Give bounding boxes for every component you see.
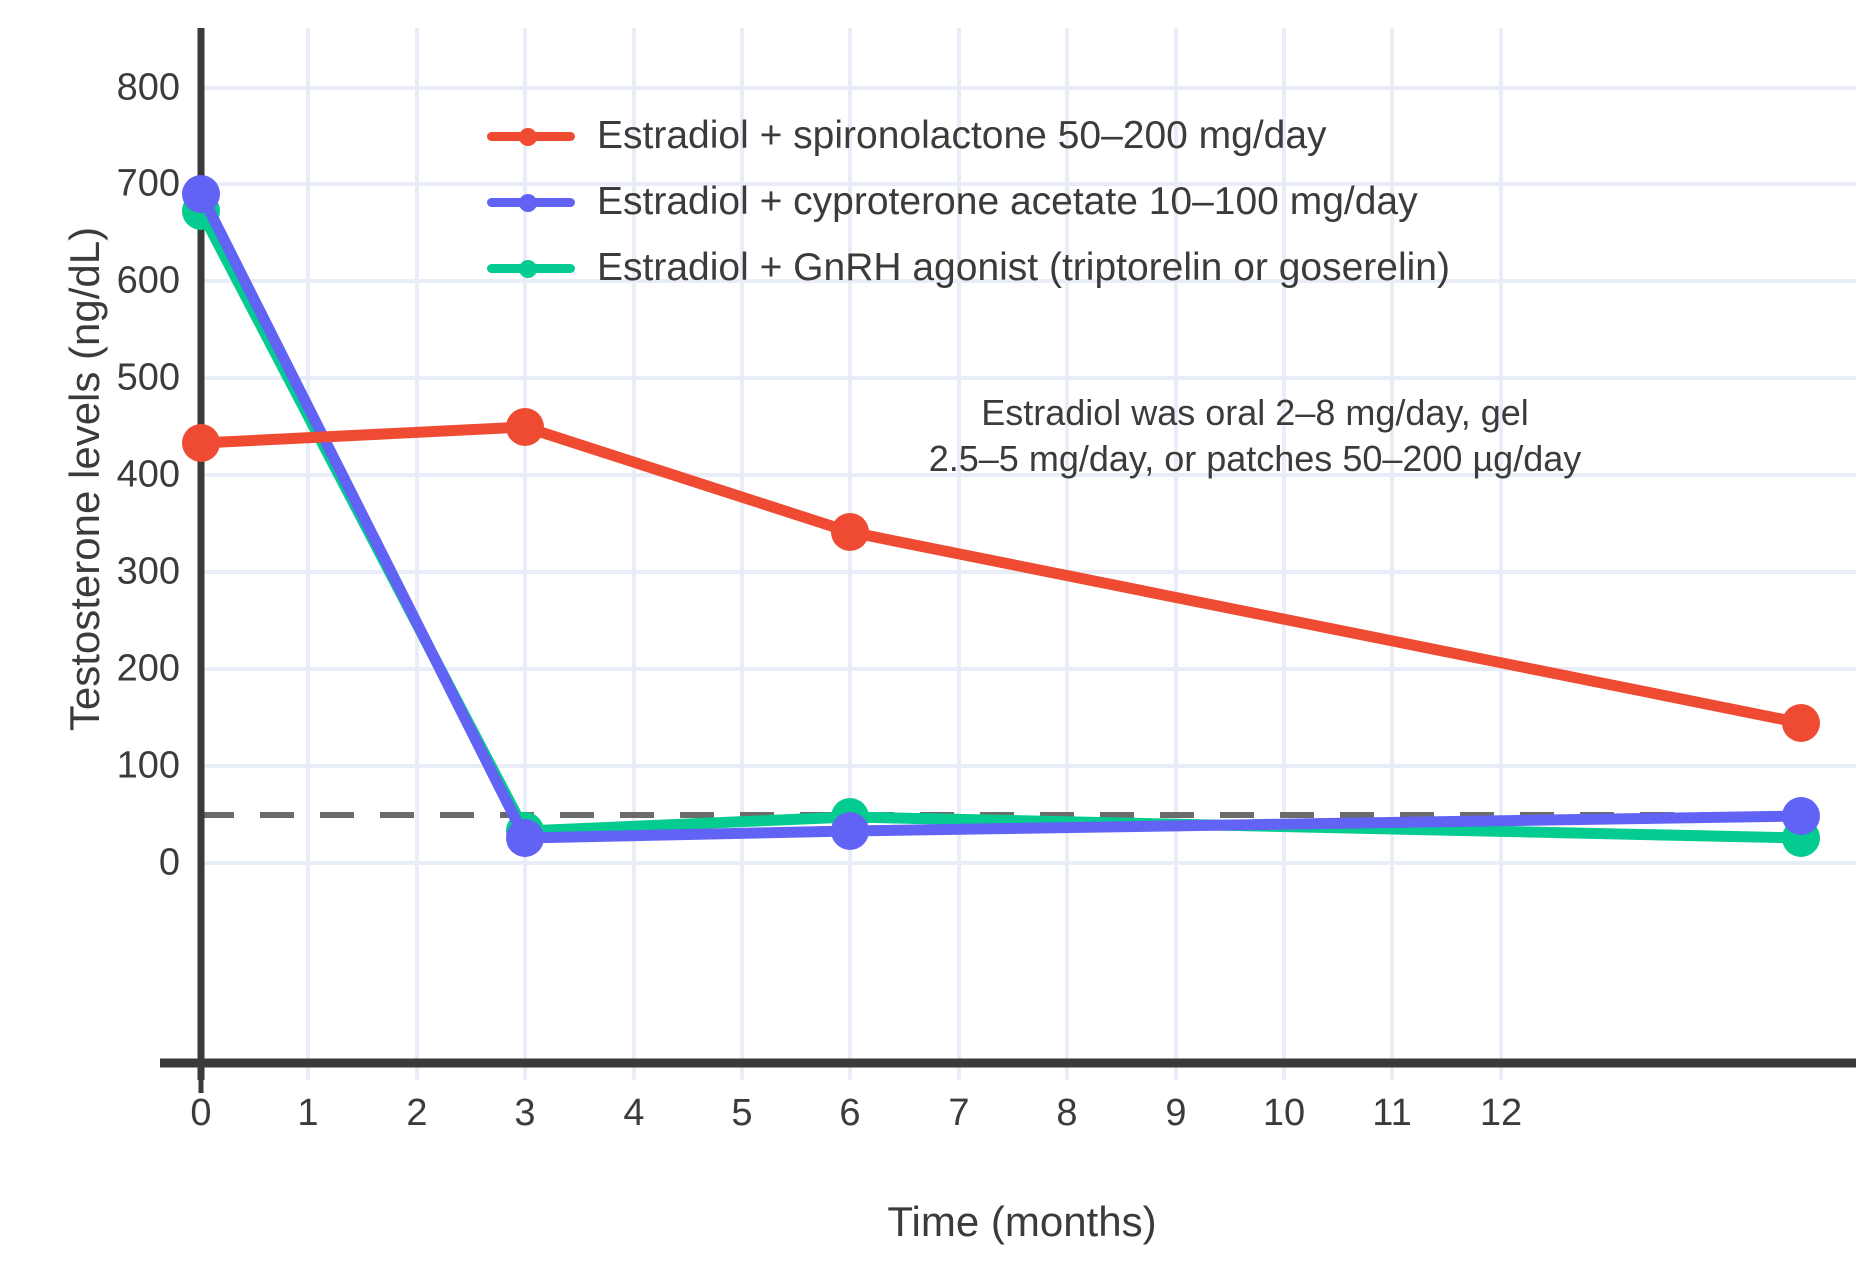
data-point-spironolactone-6 xyxy=(831,513,869,551)
legend-item-cyproterone-acetate[interactable]: Estradiol + cyproterone acetate 10–100 m… xyxy=(487,174,1447,229)
x-tick-label-11: 11 xyxy=(1347,1092,1437,1135)
legend-marker-cyproterone-icon xyxy=(487,187,575,217)
estradiol-dosing-note: Estradiol was oral 2–8 mg/day, gel 2.5–5… xyxy=(905,390,1605,482)
x-tick-label-10: 10 xyxy=(1239,1092,1329,1135)
annotation-line-1: Estradiol was oral 2–8 mg/day, gel xyxy=(905,390,1605,436)
x-axis-tick-labels: 0 1 2 3 4 5 6 7 8 9 10 11 12 xyxy=(0,1092,1856,1152)
x-tick-label-12: 12 xyxy=(1456,1092,1546,1135)
data-point-spironolactone-0 xyxy=(182,424,220,462)
x-tick-label-9: 9 xyxy=(1131,1092,1221,1135)
y-axis-title: Testosterone levels (ng/dL) xyxy=(61,39,109,919)
x-tick-label-6: 6 xyxy=(805,1092,895,1135)
x-tick-label-8: 8 xyxy=(1022,1092,1112,1135)
data-point-cyproterone-0 xyxy=(182,175,220,213)
legend-label-spironolactone: Estradiol + spironolactone 50–200 mg/day xyxy=(597,116,1327,155)
legend-item-spironolactone[interactable]: Estradiol + spironolactone 50–200 mg/day xyxy=(487,108,1447,163)
data-point-cyproterone-3 xyxy=(506,819,544,857)
x-tick-label-5: 5 xyxy=(697,1092,787,1135)
data-point-cyproterone-12 xyxy=(1782,797,1820,835)
chart-figure: 800 700 600 500 400 300 200 100 0 0 1 2 … xyxy=(0,0,1856,1284)
data-point-spironolactone-12 xyxy=(1782,704,1820,742)
annotation-line-2: 2.5–5 mg/day, or patches 50–200 µg/day xyxy=(905,436,1605,482)
x-axis-title: Time (months) xyxy=(228,1198,1816,1246)
chart-legend: Estradiol + spironolactone 50–200 mg/day… xyxy=(487,108,1447,306)
data-point-cyproterone-6 xyxy=(831,812,869,850)
x-tick-label-0: 0 xyxy=(156,1092,246,1135)
x-tick-label-7: 7 xyxy=(914,1092,1004,1135)
legend-marker-spironolactone-icon xyxy=(487,121,575,151)
data-point-spironolactone-3 xyxy=(506,408,544,446)
x-tick-label-1: 1 xyxy=(263,1092,353,1135)
legend-item-gnrh-agonist[interactable]: Estradiol + GnRH agonist (triptorelin or… xyxy=(487,240,1447,295)
legend-label-cyproterone-acetate: Estradiol + cyproterone acetate 10–100 m… xyxy=(597,182,1418,221)
x-tick-label-3: 3 xyxy=(480,1092,570,1135)
x-tick-label-4: 4 xyxy=(589,1092,679,1135)
legend-label-gnrh-agonist: Estradiol + GnRH agonist (triptorelin or… xyxy=(597,248,1450,287)
x-tick-label-2: 2 xyxy=(372,1092,462,1135)
legend-marker-gnrh-icon xyxy=(487,253,575,283)
